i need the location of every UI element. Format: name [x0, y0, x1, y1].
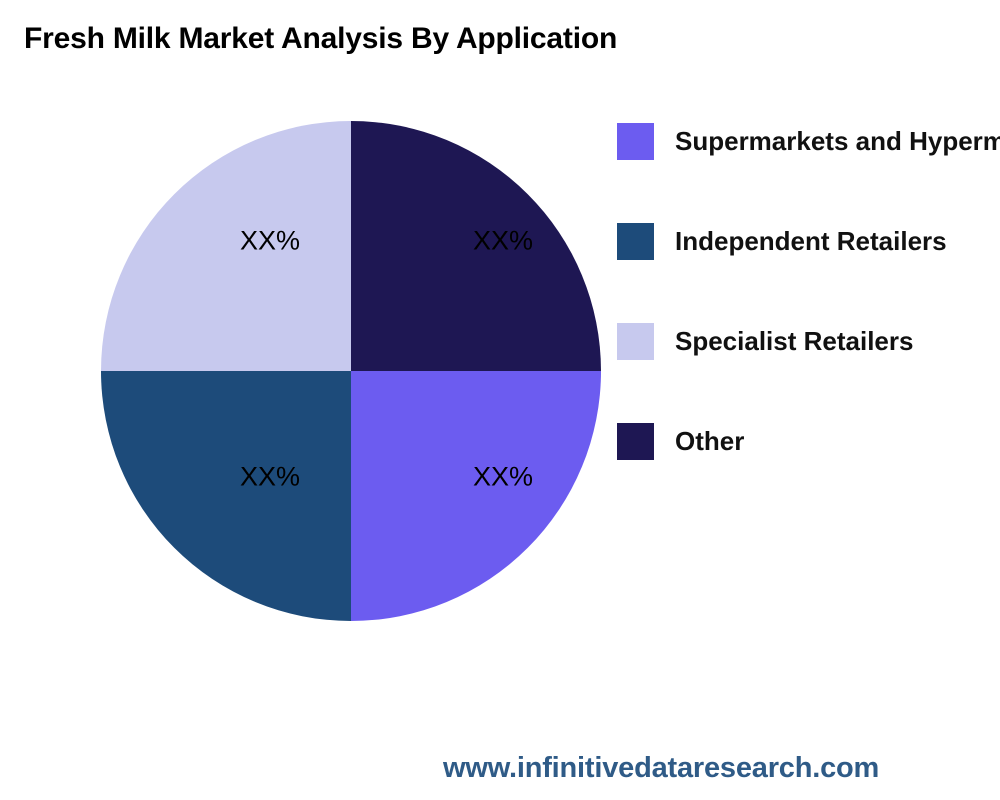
pie-slice-independent-retailers[interactable] [101, 371, 351, 621]
pie-slice-specialist-retailers[interactable] [101, 121, 351, 371]
legend-item-label: Supermarkets and Hypermarkets [675, 121, 1000, 162]
legend-item-label: Other [675, 421, 744, 462]
legend-item-label: Specialist Retailers [675, 321, 913, 362]
pie-chart: XX% XX% XX% XX% [101, 121, 601, 621]
page-title: Fresh Milk Market Analysis By Applicatio… [24, 22, 617, 56]
legend-color-swatch-icon [617, 223, 654, 260]
legend-item-supermarkets-and-hypermarkets[interactable]: Supermarkets and Hypermarkets [617, 121, 1000, 221]
chart-legend: Supermarkets and Hypermarkets Independen… [617, 121, 1000, 521]
pie-slice-other[interactable] [351, 121, 601, 371]
legend-item-specialist-retailers[interactable]: Specialist Retailers [617, 321, 1000, 421]
legend-item-other[interactable]: Other [617, 421, 1000, 521]
legend-item-independent-retailers[interactable]: Independent Retailers [617, 221, 1000, 321]
legend-color-swatch-icon [617, 423, 654, 460]
legend-item-label: Independent Retailers [675, 221, 947, 262]
pie-slice-supermarkets-and-hypermarkets[interactable] [351, 371, 601, 621]
legend-color-swatch-icon [617, 323, 654, 360]
pie-chart-svg [101, 121, 601, 621]
legend-color-swatch-icon [617, 123, 654, 160]
source-website-url[interactable]: www.infinitivedataresearch.com [443, 752, 879, 785]
